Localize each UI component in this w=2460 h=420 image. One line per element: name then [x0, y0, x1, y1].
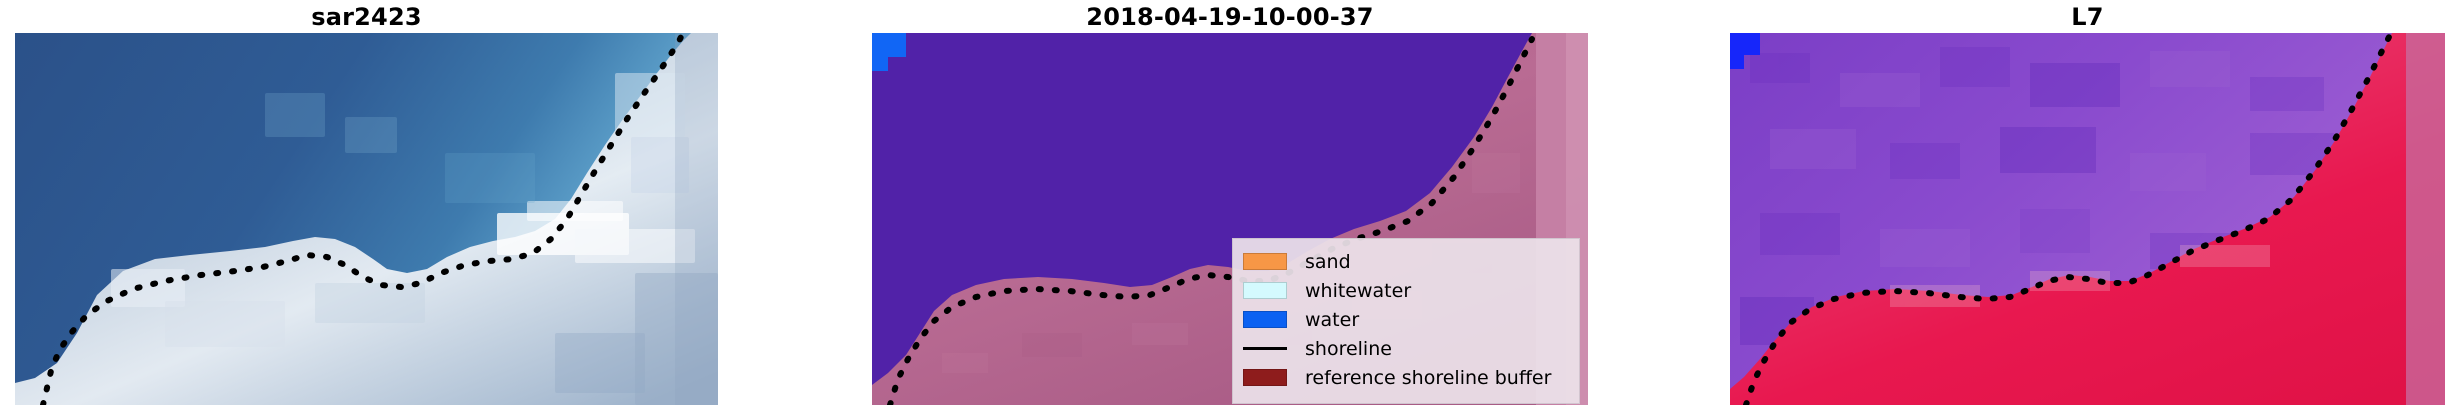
legend-label-reference-shoreline-buffer: reference shoreline buffer [1305, 367, 1551, 389]
panel-l7: L7 [1730, 0, 2445, 420]
panel-title-date: 2018-04-19-10-00-37 [872, 2, 1588, 32]
legend-item-sand: sand [1243, 247, 1569, 276]
water-class-patch [1730, 33, 1760, 55]
panel-title-l7: L7 [1730, 2, 2445, 32]
legend-item-reference-shoreline-buffer: reference shoreline buffer [1243, 363, 1569, 392]
axes-sar2423 [15, 33, 718, 405]
shoreline-line-swatch [1243, 340, 1287, 357]
classification-legend: sand whitewater water shoreline referenc… [1232, 238, 1580, 404]
sand-color-swatch [1243, 253, 1287, 270]
axes-l7 [1730, 33, 2445, 405]
legend-label-sand: sand [1305, 251, 1351, 273]
classified-image-l7 [1730, 33, 2445, 405]
panel-title-sar2423: sar2423 [15, 2, 718, 32]
legend-label-whitewater: whitewater [1305, 280, 1411, 302]
whitewater-color-swatch [1243, 282, 1287, 299]
panel-sar2423: sar2423 [15, 0, 718, 420]
water-color-swatch [1243, 311, 1287, 328]
legend-label-water: water [1305, 309, 1359, 331]
reference-buffer-color-swatch [1243, 369, 1287, 386]
figure-canvas: sar2423 [0, 0, 2460, 420]
water-class-patch [872, 33, 906, 57]
legend-item-shoreline: shoreline [1243, 334, 1569, 363]
legend-item-water: water [1243, 305, 1569, 334]
legend-item-whitewater: whitewater [1243, 276, 1569, 305]
legend-label-shoreline: shoreline [1305, 338, 1392, 360]
sar-image [15, 33, 718, 405]
